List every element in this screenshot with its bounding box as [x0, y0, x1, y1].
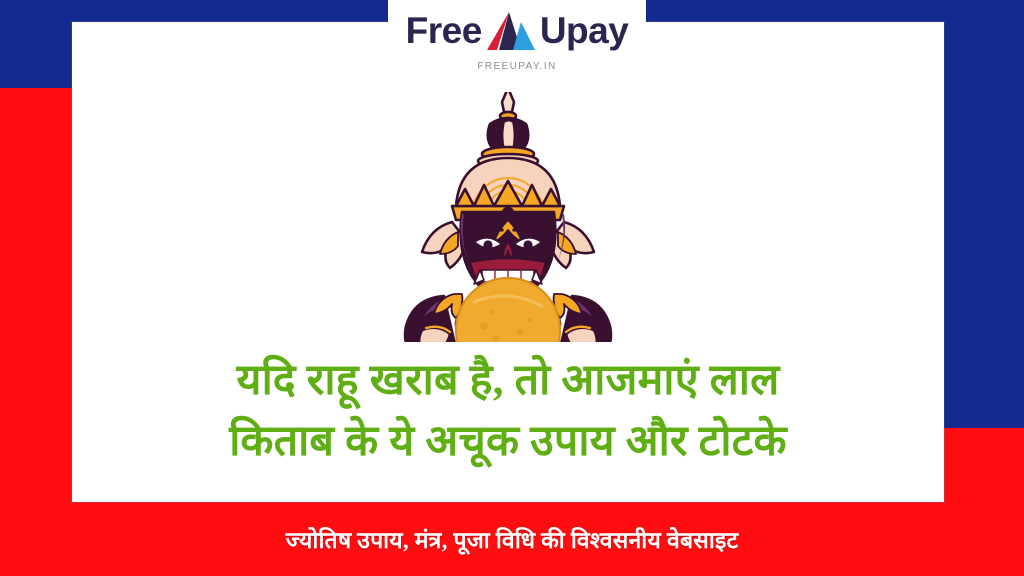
headline-line-2: किताब के ये अचूक उपाय और टोटके [86, 411, 930, 472]
rahu-deity-illustration [378, 82, 638, 342]
logo-word-upay: Upay [540, 8, 628, 54]
site-logo[interactable]: Free Upay FREEUPAY.IN [388, 0, 646, 92]
logo-subtitle: FREEUPAY.IN [477, 61, 556, 72]
headline: यदि राहू खराब है, तो आजमाएं लाल किताब के… [72, 350, 944, 472]
tagline-band: ज्योतिष उपाय, मंत्र, पूजा विधि की विश्वस… [0, 502, 1024, 576]
triangle-mountain-logo-icon [485, 10, 537, 52]
tagline-text: ज्योतिष उपाय, मंत्र, पूजा विधि की विश्वस… [286, 523, 739, 555]
banner-root: यदि राहू खराब है, तो आजमाएं लाल किताब के… [0, 0, 1024, 576]
frame-border-right-blue [944, 0, 1024, 428]
headline-line-1: यदि राहू खराब है, तो आजमाएं लाल [86, 350, 930, 411]
frame-border-left-blue [0, 0, 72, 88]
logo-wordmark: Free Upay [406, 8, 629, 54]
content-card: यदि राहू खराब है, तो आजमाएं लाल किताब के… [72, 22, 944, 502]
logo-word-free: Free [406, 8, 482, 54]
